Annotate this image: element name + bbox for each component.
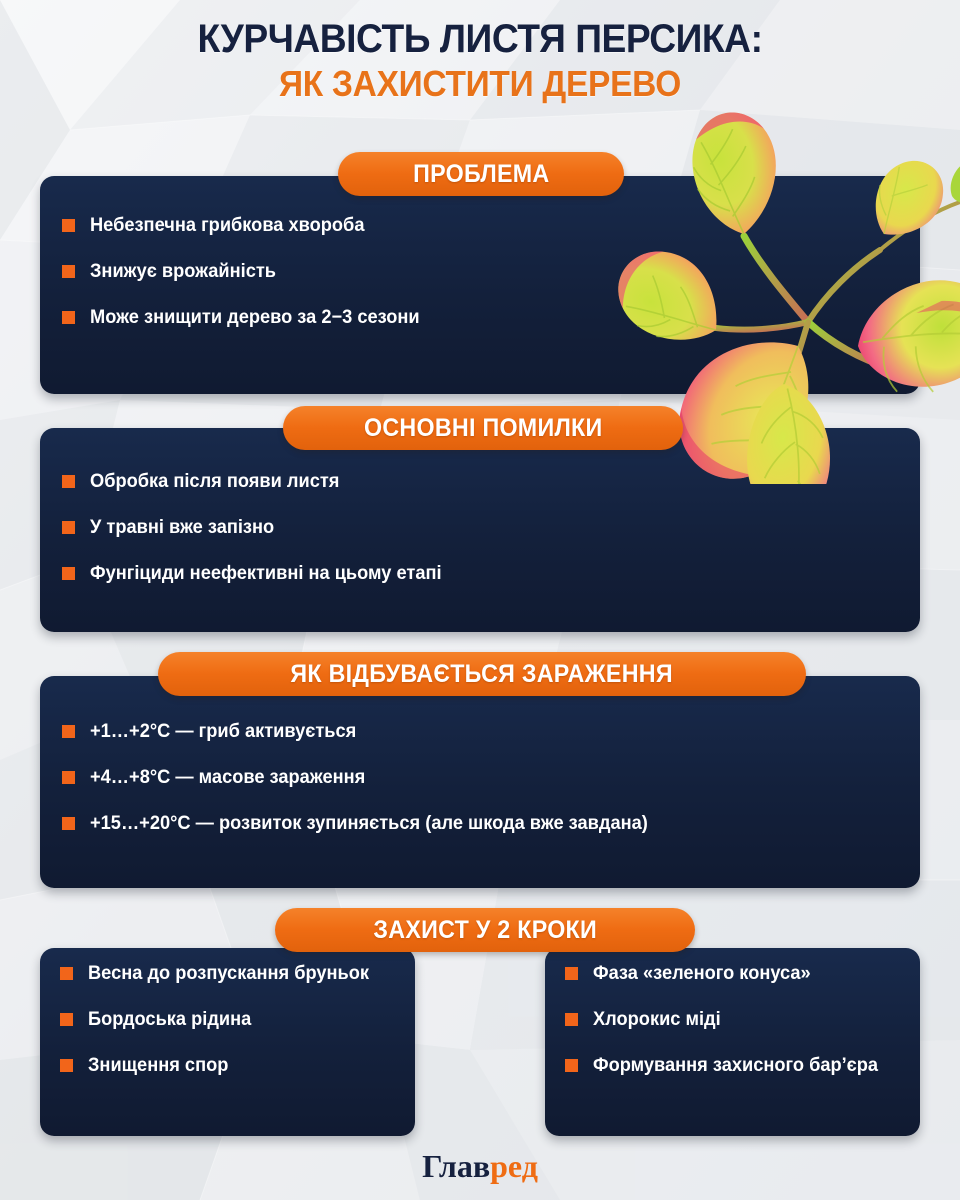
list-item-label: Може знищити дерево за 2−3 сезони (90, 306, 420, 330)
list-item: Формування захисного бар’єра (565, 1054, 906, 1078)
problem-list: Небезпечна грибкова хвороба Знижує врожа… (62, 214, 902, 352)
bullet-square-icon (62, 265, 75, 278)
list-item-label: Фунгіциди неефективні на цьому етапі (90, 562, 442, 586)
pill-protection-2-steps-label: ЗАХИСТ У 2 КРОКИ (373, 916, 597, 945)
bullet-square-icon (60, 967, 73, 980)
list-item-label: У травні вже запізно (90, 516, 274, 540)
panel-protection-step-2: Фаза «зеленого конуса» Хлорокис міді Фор… (545, 948, 920, 1136)
bullet-square-icon (60, 1059, 73, 1072)
pill-how-infection-happens: ЯК ВІДБУВАЄТЬСЯ ЗАРАЖЕННЯ (158, 652, 806, 696)
bullet-square-icon (565, 967, 578, 980)
pill-main-mistakes: ОСНОВНІ ПОМИЛКИ (283, 406, 683, 450)
infographic-page: КУРЧАВІСТЬ ЛИСТЯ ПЕРСИКА: ЯК ЗАХИСТИТИ Д… (0, 0, 960, 1200)
pill-problem: ПРОБЛЕМА (338, 152, 624, 196)
list-item-label: Знижує врожайність (90, 260, 276, 284)
infection-list: +1…+2°C — гриб активується +4…+8°C — мас… (62, 720, 902, 858)
list-item: Може знищити дерево за 2−3 сезони (62, 306, 902, 330)
main-mistakes-list: Обробка після появи листя У травні вже з… (62, 470, 902, 608)
bullet-square-icon (62, 311, 75, 324)
list-item: Фунгіциди неефективні на цьому етапі (62, 562, 902, 586)
protection-step-1-list: Весна до розпускання бруньок Бордоська р… (60, 962, 401, 1100)
list-item-label: +4…+8°C — масове зараження (90, 766, 365, 790)
page-title: КУРЧАВІСТЬ ЛИСТЯ ПЕРСИКА: ЯК ЗАХИСТИТИ Д… (0, 16, 960, 106)
list-item-label: Обробка після появи листя (90, 470, 339, 494)
panel-how-infection-happens: +1…+2°C — гриб активується +4…+8°C — мас… (40, 676, 920, 888)
list-item-label: Фаза «зеленого конуса» (593, 962, 811, 986)
site-logo[interactable]: Главред (0, 1148, 960, 1185)
logo-part-red: ред (490, 1148, 538, 1184)
list-item: Знищення спор (60, 1054, 401, 1078)
list-item: Весна до розпускання бруньок (60, 962, 401, 986)
logo-part-glav: Глав (422, 1148, 490, 1184)
pill-problem-label: ПРОБЛЕМА (413, 160, 549, 189)
list-item: Небезпечна грибкова хвороба (62, 214, 902, 238)
list-item-label: Хлорокис міді (593, 1008, 721, 1032)
panel-problem: Небезпечна грибкова хвороба Знижує врожа… (40, 176, 920, 394)
title-line-2: ЯК ЗАХИСТИТИ ДЕРЕВО (34, 62, 927, 106)
list-item: Хлорокис міді (565, 1008, 906, 1032)
list-item: Обробка після появи листя (62, 470, 902, 494)
bullet-square-icon (62, 725, 75, 738)
list-item-label: Формування захисного бар’єра (593, 1054, 878, 1078)
list-item: Бордоська рідина (60, 1008, 401, 1032)
list-item-label: Знищення спор (88, 1054, 228, 1078)
bullet-square-icon (62, 567, 75, 580)
bullet-square-icon (62, 475, 75, 488)
list-item: +1…+2°C — гриб активується (62, 720, 902, 744)
list-item: У травні вже запізно (62, 516, 902, 540)
bullet-square-icon (62, 521, 75, 534)
title-line-1: КУРЧАВІСТЬ ЛИСТЯ ПЕРСИКА: (34, 16, 927, 62)
panel-protection-step-1: Весна до розпускання бруньок Бордоська р… (40, 948, 415, 1136)
list-item-label: Весна до розпускання бруньок (88, 962, 369, 986)
list-item-label: Бордоська рідина (88, 1008, 251, 1032)
bullet-square-icon (62, 771, 75, 784)
bullet-square-icon (62, 219, 75, 232)
list-item-label: +15…+20°C — розвиток зупиняється (але шк… (90, 812, 648, 836)
bullet-square-icon (60, 1013, 73, 1026)
bullet-square-icon (565, 1013, 578, 1026)
panel-main-mistakes: Обробка після появи листя У травні вже з… (40, 428, 920, 632)
list-item: Знижує врожайність (62, 260, 902, 284)
list-item: +4…+8°C — масове зараження (62, 766, 902, 790)
list-item: Фаза «зеленого конуса» (565, 962, 906, 986)
bullet-square-icon (62, 817, 75, 830)
list-item: +15…+20°C — розвиток зупиняється (але шк… (62, 812, 902, 836)
list-item-label: Небезпечна грибкова хвороба (90, 214, 364, 238)
protection-step-2-list: Фаза «зеленого конуса» Хлорокис міді Фор… (565, 962, 906, 1100)
pill-main-mistakes-label: ОСНОВНІ ПОМИЛКИ (364, 414, 603, 443)
pill-protection-2-steps: ЗАХИСТ У 2 КРОКИ (275, 908, 695, 952)
bullet-square-icon (565, 1059, 578, 1072)
list-item-label: +1…+2°C — гриб активується (90, 720, 356, 744)
pill-how-infection-happens-label: ЯК ВІДБУВАЄТЬСЯ ЗАРАЖЕННЯ (291, 660, 673, 689)
